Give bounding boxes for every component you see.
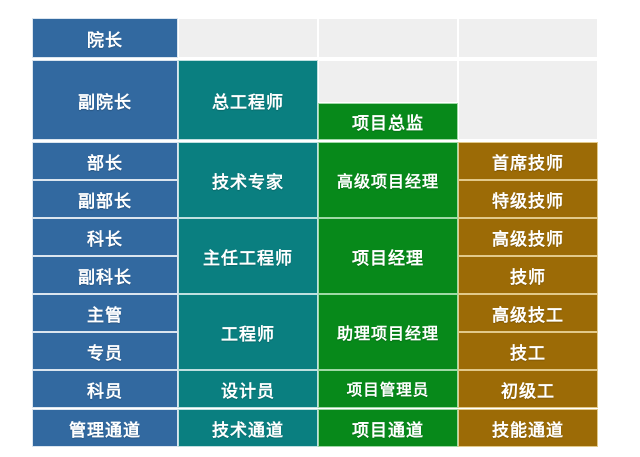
cell-skill-3[interactable]: 高级技师: [458, 218, 598, 256]
cell-project-2[interactable]: 高级项目经理: [318, 142, 458, 218]
empty-cell-project-row1: [318, 18, 458, 58]
cell-management-7[interactable]: 主管: [32, 294, 178, 332]
cell-project-4[interactable]: 助理项目经理: [318, 294, 458, 370]
cell-management-4[interactable]: 副部长: [32, 180, 178, 218]
career-ladder-table: 院长 副院长 部长 副部长 科长 副科长 主管 专员 科员 管理通道 总工程师 …: [32, 18, 598, 447]
footer-management[interactable]: 管理通道: [32, 409, 178, 447]
cell-skill-6[interactable]: 技工: [458, 332, 598, 370]
footer-technical[interactable]: 技术通道: [178, 409, 318, 447]
empty-cell-skill-row1: [458, 18, 598, 58]
cell-management-8[interactable]: 专员: [32, 332, 178, 370]
footer-project[interactable]: 项目通道: [318, 409, 458, 447]
cell-project-5[interactable]: 项目管理员: [318, 370, 458, 408]
cell-technical-3[interactable]: 主任工程师: [178, 218, 318, 294]
cell-management-9[interactable]: 科员: [32, 370, 178, 408]
cell-management-1[interactable]: 院长: [32, 18, 178, 58]
cell-technical-2[interactable]: 技术专家: [178, 142, 318, 218]
cell-management-2[interactable]: 副院长: [32, 60, 178, 140]
cell-technical-4[interactable]: 工程师: [178, 294, 318, 370]
cell-project-1[interactable]: 项目总监: [318, 103, 458, 140]
cell-technical-1[interactable]: 总工程师: [178, 60, 318, 140]
cell-skill-4[interactable]: 技师: [458, 256, 598, 294]
empty-cell-project-row2: [318, 60, 458, 103]
cell-skill-7[interactable]: 初级工: [458, 370, 598, 408]
cell-project-3[interactable]: 项目经理: [318, 218, 458, 294]
cell-skill-5[interactable]: 高级技工: [458, 294, 598, 332]
cell-management-3[interactable]: 部长: [32, 142, 178, 180]
cell-technical-5[interactable]: 设计员: [178, 370, 318, 408]
cell-skill-2[interactable]: 特级技师: [458, 180, 598, 218]
cell-management-6[interactable]: 副科长: [32, 256, 178, 294]
footer-skill[interactable]: 技能通道: [458, 409, 598, 447]
empty-cell-skill-row2: [458, 60, 598, 140]
cell-skill-1[interactable]: 首席技师: [458, 142, 598, 180]
cell-management-5[interactable]: 科长: [32, 218, 178, 256]
empty-cell-tech-row1: [178, 18, 318, 58]
